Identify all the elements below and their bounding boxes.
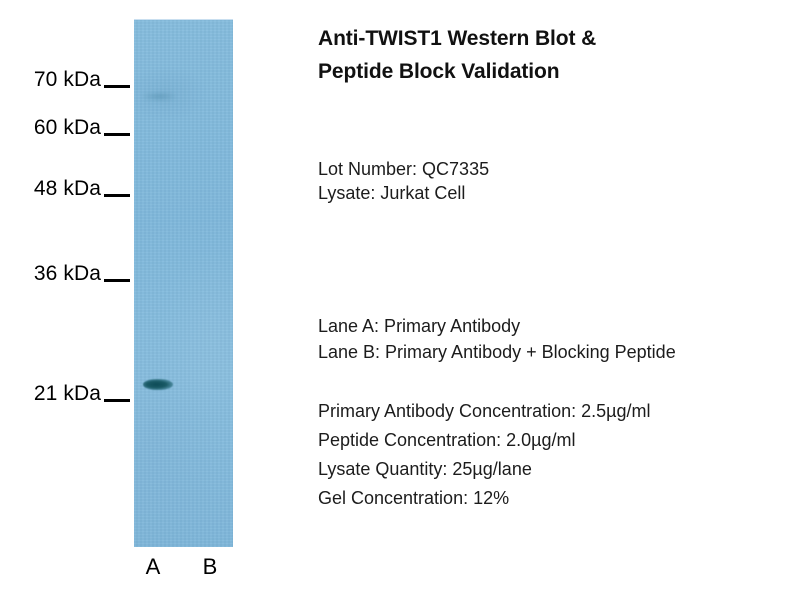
mw-tick-icon [104,194,130,197]
gel-concentration-line: Gel Concentration: 12% [318,484,798,513]
mw-marker-36: 36 kDa [0,256,134,290]
mw-tick-icon [104,279,130,282]
lane-b-description: Lane B: Primary Antibody + Blocking Pept… [318,339,800,365]
lysate-quantity-line: Lysate Quantity: 25µg/lane [318,455,798,484]
mw-marker-label: 48 kDa [34,178,101,199]
mw-marker-label: 60 kDa [34,117,101,138]
faint-background-band [142,92,176,101]
mw-marker-label: 21 kDa [34,383,101,404]
mw-marker-label: 36 kDa [34,263,101,284]
figure-title-line-1: Anti-TWIST1 Western Blot & [318,22,798,55]
mw-tick-icon [104,399,130,402]
figure-title-line-2: Peptide Block Validation [318,55,798,88]
lysate-line: Lysate: Jurkat Cell [318,181,798,205]
molecular-weight-ladder: 70 kDa 60 kDa 48 kDa 36 kDa 21 kDa [0,0,134,600]
mw-marker-label: 70 kDa [34,69,101,90]
primary-antibody-concentration-line: Primary Antibody Concentration: 2.5µg/ml [318,397,798,426]
figure-title-block: Anti-TWIST1 Western Blot & Peptide Block… [318,22,798,88]
experimental-parameters-block: Primary Antibody Concentration: 2.5µg/ml… [318,397,798,513]
lane-a-description: Lane A: Primary Antibody [318,313,800,339]
twist1-band-lane-a [143,379,173,390]
lane-description-block: Lane A: Primary Antibody Lane B: Primary… [318,313,800,365]
lane-label-row: A B [134,556,233,588]
mw-marker-21: 21 kDa [0,376,134,410]
mw-marker-48: 48 kDa [0,171,134,205]
mw-tick-icon [104,85,130,88]
blot-membrane [134,19,233,547]
peptide-concentration-line: Peptide Concentration: 2.0µg/ml [318,426,798,455]
lane-label-a: A [141,556,165,578]
mw-marker-70: 70 kDa [0,62,134,96]
figure-title: Anti-TWIST1 Western Blot & Peptide Block… [318,22,798,88]
mw-tick-icon [104,133,130,136]
lot-number-line: Lot Number: QC7335 [318,157,798,181]
lane-label-b: B [198,556,222,578]
mw-marker-60: 60 kDa [0,110,134,144]
western-blot-figure: 70 kDa 60 kDa 48 kDa 36 kDa 21 kDa A B [0,0,800,600]
sample-metadata-block: Lot Number: QC7335 Lysate: Jurkat Cell [318,157,798,205]
